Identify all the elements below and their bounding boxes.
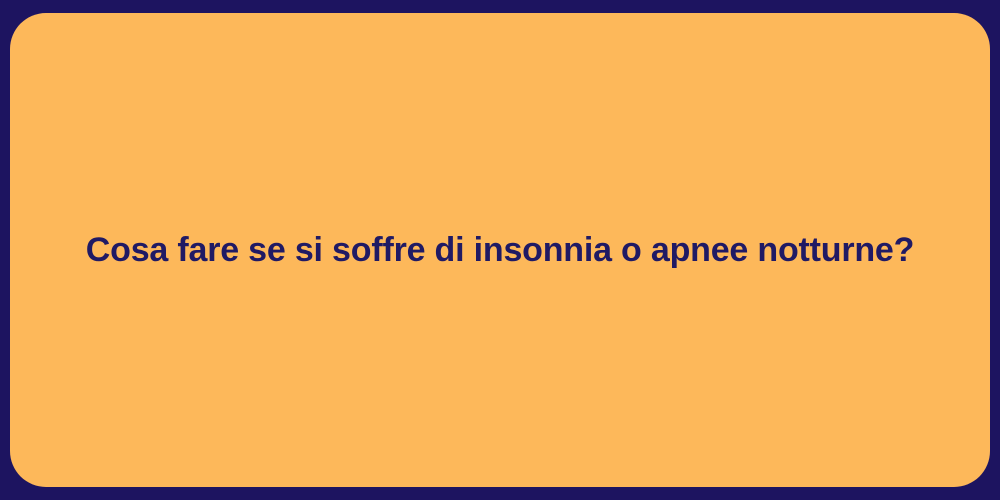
outer-border-frame: Cosa fare se si soffre di insonnia o apn… (0, 0, 1000, 500)
banner-card: Cosa fare se si soffre di insonnia o apn… (10, 13, 990, 487)
headline-text: Cosa fare se si soffre di insonnia o apn… (26, 229, 974, 272)
